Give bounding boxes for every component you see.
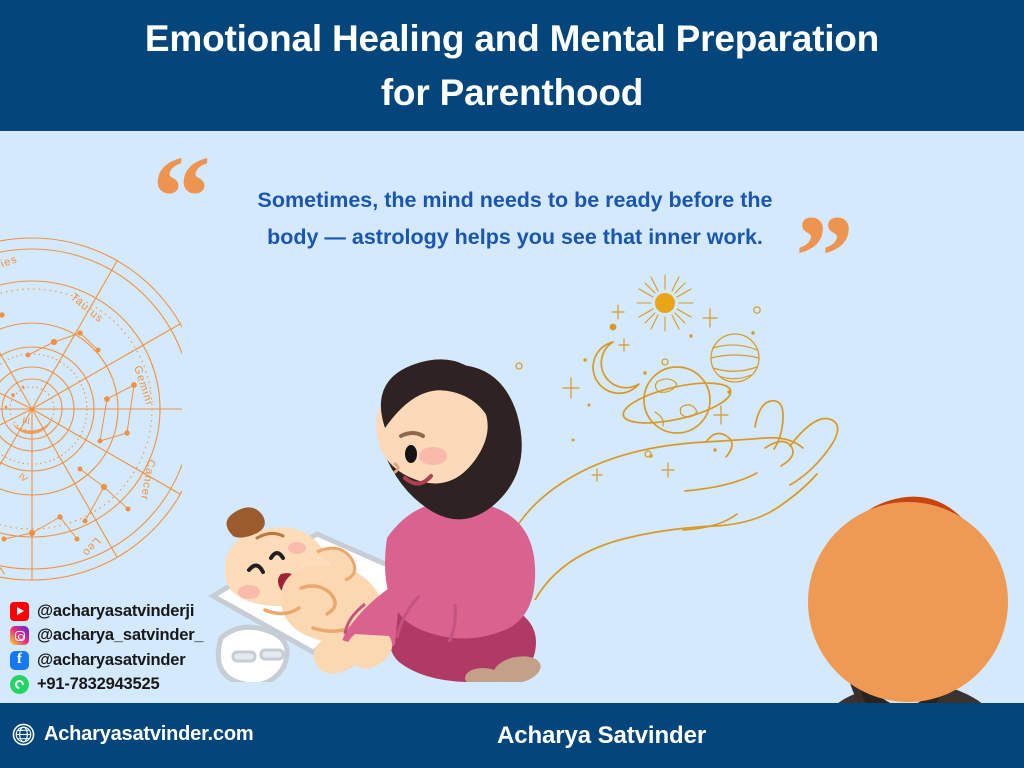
page-title: Emotional Healing and Mental Preparation… — [122, 12, 902, 119]
footer-bar: Acharyasatvinder.com Acharya Satvinder — [0, 703, 1024, 768]
social-row-facebook[interactable]: f @acharyasatvinder — [10, 649, 270, 671]
globe-icon — [12, 723, 35, 746]
zodiac-label-taurus: Taurus — [68, 291, 106, 325]
mother-figure — [314, 359, 544, 682]
social-handle-youtube: @acharyasatvinderji — [37, 602, 194, 621]
sun-icon — [637, 275, 693, 331]
zodiac-label-virgo: Virgo — [0, 564, 5, 580]
zodiac-label-aries: Aries — [0, 253, 19, 275]
quote-open-mark: “ — [152, 138, 211, 256]
zodiac-wheel: ♈ ♉ ♊ ♋ ♌ ♍ Aries Taurus Gemini Cancer L… — [0, 237, 182, 581]
social-handle-instagram: @acharya_satvinder_ — [37, 626, 203, 645]
quote-text: Sometimes, the mind needs to be ready be… — [250, 182, 780, 256]
zodiac-label-leo: Leo — [79, 535, 102, 559]
portrait-circle-backdrop — [808, 502, 1008, 702]
social-links: @acharyasatvinderji @acharya_satvinder_ … — [10, 600, 270, 698]
footer-brand-name: Acharya Satvinder — [497, 722, 706, 750]
star-dots — [572, 324, 755, 458]
ringed-planet-icon — [620, 367, 734, 433]
house-numeral-3: III — [22, 415, 31, 426]
stars-decoration — [563, 305, 728, 481]
open-hand-icon — [505, 401, 838, 600]
poster-canvas: ♈ ♉ ♊ ♋ ♌ ♍ Aries Taurus Gemini Cancer L… — [0, 0, 1024, 768]
social-row-youtube[interactable]: @acharyasatvinderji — [10, 600, 270, 622]
zodiac-wheel-svg: ♈ ♉ ♊ ♋ ♌ ♍ Aries Taurus Gemini Cancer L… — [0, 237, 182, 581]
house-numeral-4: IV — [17, 471, 30, 484]
striped-planet-icon — [711, 334, 759, 382]
header-bar: Emotional Healing and Mental Preparation… — [0, 0, 1024, 131]
footer-website-link[interactable]: Acharyasatvinder.com — [12, 723, 253, 746]
social-row-instagram[interactable]: @acharya_satvinder_ — [10, 625, 270, 647]
social-handle-whatsapp: +91-7832943525 — [37, 675, 159, 694]
footer-website-text: Acharyasatvinder.com — [44, 723, 253, 746]
star-rings — [516, 307, 760, 457]
zodiac-label-cancer: Cancer — [138, 458, 157, 501]
social-handle-facebook: @acharyasatvinder — [37, 651, 185, 670]
whatsapp-icon[interactable] — [10, 675, 29, 694]
social-row-whatsapp[interactable]: +91-7832943525 — [10, 674, 270, 696]
crescent-moon-icon — [593, 342, 639, 393]
facebook-icon[interactable]: f — [10, 651, 29, 670]
zodiac-label-gemini: Gemini — [131, 364, 155, 407]
youtube-icon[interactable] — [10, 602, 29, 621]
instagram-icon[interactable] — [10, 626, 29, 645]
quote-close-mark: ” — [795, 198, 854, 316]
